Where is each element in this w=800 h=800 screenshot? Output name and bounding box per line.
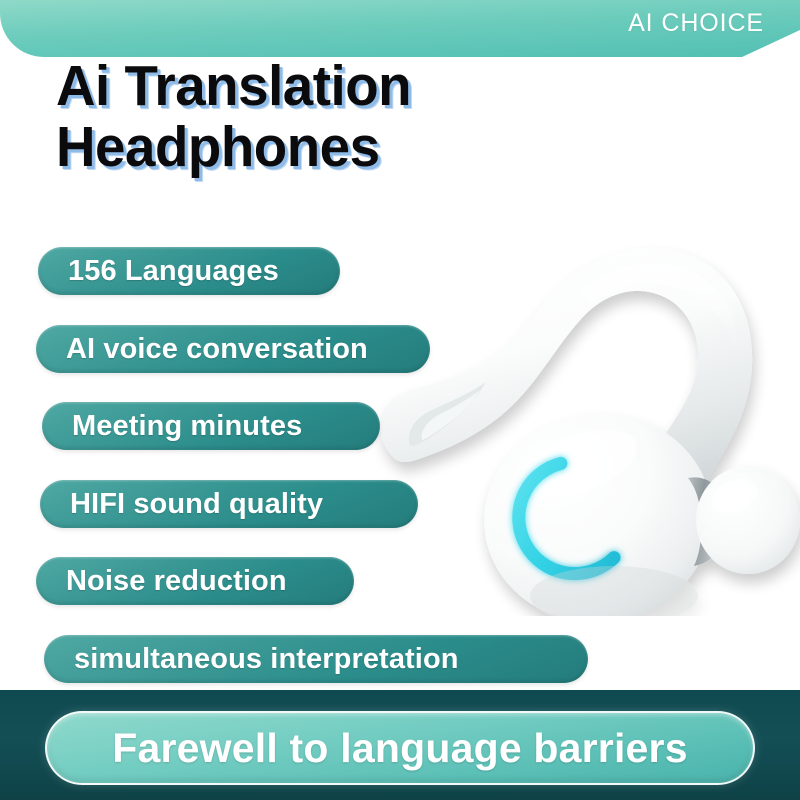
- earbud-group: [380, 248, 800, 616]
- page-title-line-1: Ai Translation: [56, 56, 632, 117]
- footer-tagline-label: Farewell to language barriers: [112, 725, 687, 772]
- feature-pill-2[interactable]: Meeting minutes: [42, 402, 380, 450]
- page-title: Ai Translation Headphones: [56, 56, 656, 178]
- feature-pill-label-4: Noise reduction: [36, 567, 317, 596]
- brand-tag: AI CHOICE: [628, 9, 764, 38]
- feature-pill-label-1: AI voice conversation: [36, 335, 398, 364]
- footer-tagline-button[interactable]: Farewell to language barriers: [45, 711, 755, 785]
- feature-pill-label-3: HIFI sound quality: [40, 490, 353, 519]
- feature-pill-4[interactable]: Noise reduction: [36, 557, 354, 605]
- feature-pill-label-0: 156 Languages: [38, 257, 309, 286]
- page-title-line-2: Headphones: [56, 117, 632, 178]
- product-ad-page: AI CHOICE Ai Translation Headphones: [0, 0, 800, 800]
- feature-pill-1[interactable]: AI voice conversation: [36, 325, 430, 373]
- product-image-earbud: [366, 196, 800, 616]
- feature-pill-3[interactable]: HIFI sound quality: [40, 480, 418, 528]
- feature-pill-0[interactable]: 156 Languages: [38, 247, 340, 295]
- feature-pill-label-5: simultaneous interpretation: [44, 645, 489, 674]
- footer-bar: Farewell to language barriers: [0, 690, 800, 800]
- feature-pill-5[interactable]: simultaneous interpretation: [44, 635, 588, 683]
- feature-pill-label-2: Meeting minutes: [42, 412, 332, 441]
